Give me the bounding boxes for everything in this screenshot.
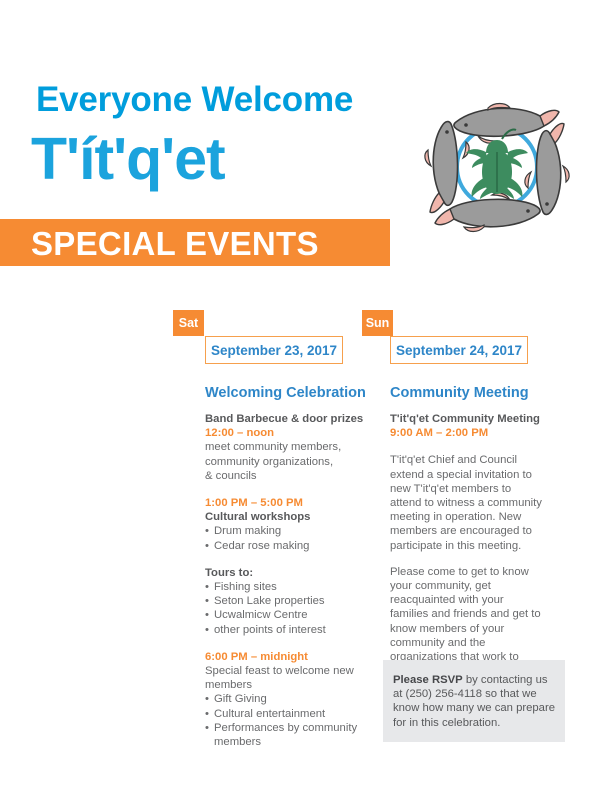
list-item: Seton Lake properties — [205, 594, 365, 608]
list-item: Cultural entertainment — [205, 707, 365, 721]
saturday-body: Band Barbecue & door prizes 12:00 – noon… — [205, 412, 365, 749]
headline-community-name: T'ít'q'et — [31, 130, 225, 189]
list-item: Fishing sites — [205, 580, 365, 594]
meeting-paragraph: T'it'q'et Chief and Council extend a spe… — [390, 453, 545, 552]
event-block-barbecue: Band Barbecue & door prizes 12:00 – noon… — [205, 412, 365, 483]
event-time: 6:00 PM – midnight — [205, 650, 365, 664]
workshop-bullet-list: Drum making Cedar rose making — [205, 524, 365, 552]
event-time: 9:00 AM – 2:00 PM — [390, 426, 545, 440]
list-item: Ucwalmicw Centre — [205, 608, 365, 622]
titqet-frog-salmon-logo — [418, 96, 576, 238]
salmon-left — [425, 122, 469, 213]
event-detail-line: meet community members, — [205, 440, 365, 454]
poster-header: Everyone Welcome T'ít'q'et SPECIAL EVENT… — [0, 0, 600, 300]
block-spacer — [390, 440, 545, 453]
block-spacer — [205, 637, 365, 650]
event-block-tours: Tours to: Fishing sites Seton Lake prope… — [205, 566, 365, 637]
salmon-right — [525, 123, 569, 214]
event-block-feast: 6:00 PM – midnight Special feast to welc… — [205, 650, 365, 749]
event-detail-line: & councils — [205, 469, 365, 483]
rsvp-notice-text: Please RSVP by contacting us at (250) 25… — [393, 673, 555, 730]
feast-bullet-list: Gift Giving Cultural entertainment Perfo… — [205, 692, 365, 749]
rsvp-lead: Please RSVP — [393, 674, 463, 686]
list-item: Performances by community members — [205, 721, 365, 749]
event-detail-line: Special feast to welcome new — [205, 664, 365, 678]
schedule-section: Sat September 23, 2017 Welcoming Celebra… — [0, 300, 600, 800]
list-item: other points of interest — [205, 623, 365, 637]
event-block-community-meeting: T'it'q'et Community Meeting 9:00 AM – 2:… — [390, 412, 545, 440]
headline-everyone-welcome: Everyone Welcome — [36, 80, 353, 120]
event-time: 12:00 – noon — [205, 426, 365, 440]
section-heading-welcoming-celebration: Welcoming Celebration — [205, 385, 366, 401]
date-box-saturday: September 23, 2017 — [205, 336, 343, 364]
rsvp-notice-box: Please RSVP by contacting us at (250) 25… — [383, 660, 565, 742]
list-item: Drum making — [205, 524, 365, 538]
day-tab-sun: Sun — [362, 310, 393, 336]
tours-bullet-list: Fishing sites Seton Lake properties Ucwa… — [205, 580, 365, 637]
event-title: Band Barbecue & door prizes — [205, 412, 365, 426]
event-time: 1:00 PM – 5:00 PM — [205, 496, 365, 510]
event-detail-line: community organizations, — [205, 455, 365, 469]
event-block-workshops: 1:00 PM – 5:00 PM Cultural workshops Dru… — [205, 496, 365, 553]
frog-figure — [466, 129, 528, 199]
event-title: Cultural workshops — [205, 510, 365, 524]
block-spacer — [205, 483, 365, 496]
day-tab-sat: Sat — [173, 310, 204, 336]
block-spacer — [205, 553, 365, 566]
event-detail-line: members — [205, 678, 365, 692]
date-box-sunday: September 24, 2017 — [390, 336, 528, 364]
event-title: T'it'q'et Community Meeting — [390, 412, 545, 426]
list-item: Cedar rose making — [205, 539, 365, 553]
event-title: Tours to: — [205, 566, 365, 580]
section-heading-community-meeting: Community Meeting — [390, 385, 529, 401]
special-events-label: SPECIAL EVENTS — [31, 225, 319, 263]
list-item: Gift Giving — [205, 692, 365, 706]
